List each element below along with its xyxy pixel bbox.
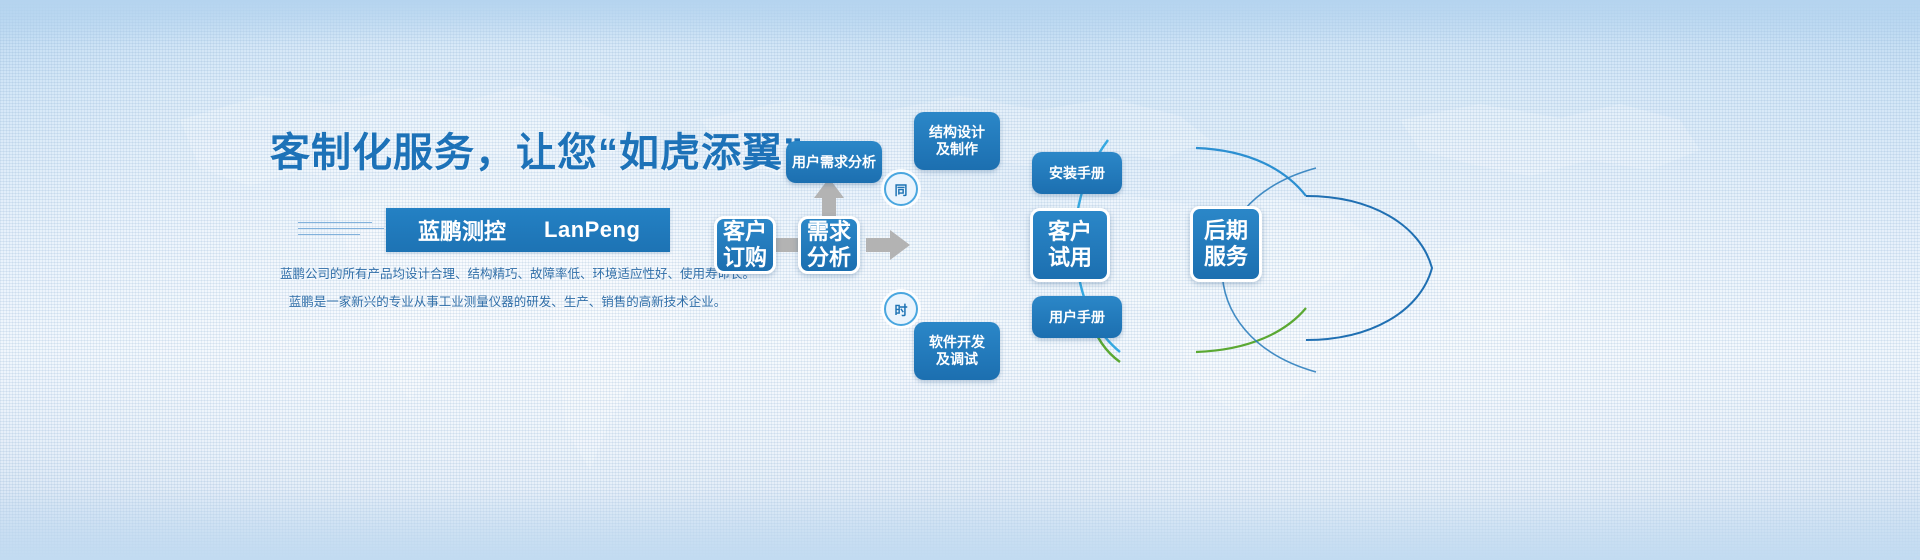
flow-node-structural-design[interactable]: 结构设计 及制作 <box>914 112 1000 170</box>
flow-connectors <box>0 0 1920 560</box>
flow-node-user-requirement-analysis[interactable]: 用户需求分析 <box>786 141 882 183</box>
flow-node-installation-manual[interactable]: 安装手册 <box>1032 152 1122 194</box>
flow-node-after-sales-service[interactable]: 后期 服务 <box>1190 206 1262 282</box>
flow-node-requirement-analysis[interactable]: 需求 分析 <box>798 216 860 274</box>
flow-node-software-development[interactable]: 软件开发 及调试 <box>914 322 1000 380</box>
flow-node-user-manual[interactable]: 用户手册 <box>1032 296 1122 338</box>
flow-node-customer-trial[interactable]: 客户 试用 <box>1030 208 1110 282</box>
connector-label-tong: 同 <box>884 172 918 206</box>
flow-node-customer-order[interactable]: 客户 订购 <box>714 216 776 274</box>
process-flowchart: 用户需求分析 客户 订购 需求 分析 结构设计 及制作 软件开发 及调试 <box>0 0 1920 560</box>
promo-banner: 客制化服务，让您“如虎添翼” 蓝鹏测控 LanPeng 蓝鹏公司的所有产品均设计… <box>0 0 1920 560</box>
connector-label-shi: 时 <box>884 292 918 326</box>
